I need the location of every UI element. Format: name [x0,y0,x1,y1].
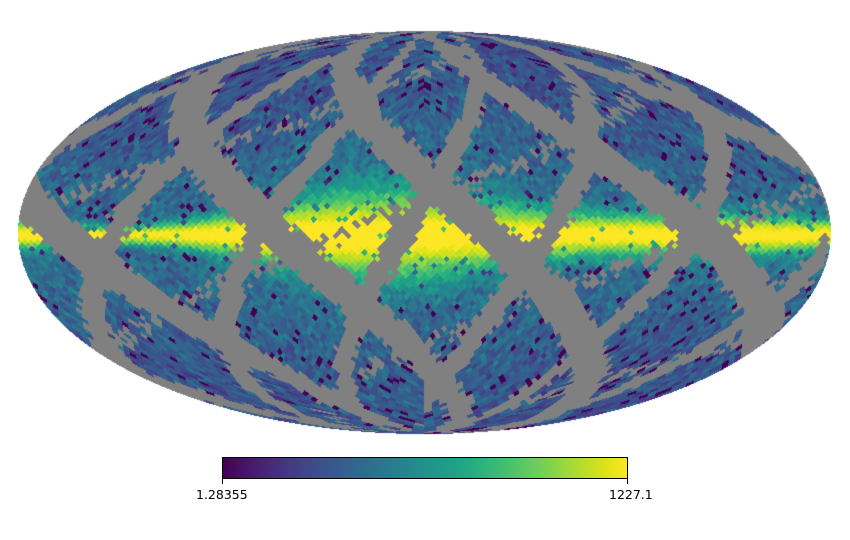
colorbar-tick-min [222,479,223,484]
colorbar-gradient [222,457,628,479]
colorbar [222,457,628,479]
sky-map-figure: Sky map at frequency 1550.87 GHz for mod… [0,0,850,540]
colorbar-label-min: 1.28355 [196,487,248,502]
colorbar-label-max: 1227.1 [609,487,653,502]
colorbar-tick-max [627,479,628,484]
